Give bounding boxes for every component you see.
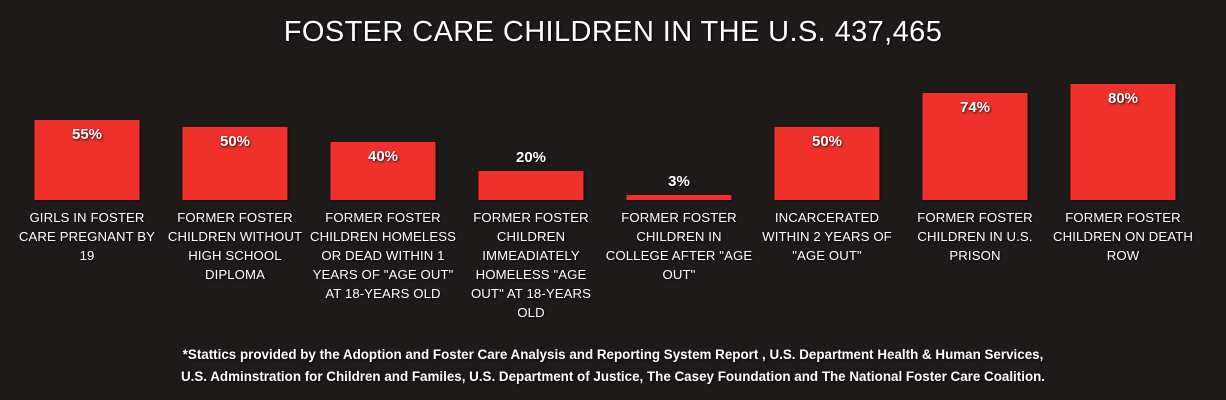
bar-zone: 55% xyxy=(13,60,161,200)
bar[interactable]: 80% xyxy=(1071,84,1176,200)
bar-value-label: 50% xyxy=(775,133,880,150)
bar-value-label: 40% xyxy=(331,148,436,165)
bar-category-label: FORMER FOSTERCHILDREN WITHOUTHIGH SCHOOL… xyxy=(161,208,309,284)
category-label-line: FORMER FOSTER xyxy=(605,208,753,227)
footnote: *Stattics provided by the Adoption and F… xyxy=(0,344,1226,388)
bar[interactable]: 55% xyxy=(35,120,140,200)
bar[interactable]: 40% xyxy=(331,142,436,200)
bar-category-label: GIRLS IN FOSTERCARE PREGNANT BY19 xyxy=(13,208,161,265)
bar-column: 50%INCARCERATEDWITHIN 2 YEARS OF"AGE OUT… xyxy=(753,60,901,335)
category-label-line: OR DEAD WITHIN 1 xyxy=(309,246,457,265)
category-label-line: CHILDREN WITHOUT xyxy=(161,227,309,246)
bar-value-label: 80% xyxy=(1071,90,1176,107)
bar-category-label: FORMER FOSTERCHILDREN INCOLLEGE AFTER "A… xyxy=(605,208,753,284)
category-label-line: AT 18-YEARS OLD xyxy=(309,284,457,303)
page-title: FOSTER CARE CHILDREN IN THE U.S. 437,465 xyxy=(0,16,1226,49)
bar-category-label: FORMER FOSTERCHILDRENIMMEADIATELYHOMELES… xyxy=(457,208,605,322)
category-label-line: DIPLOMA xyxy=(161,265,309,284)
category-label-line: COLLEGE AFTER "AGE xyxy=(605,246,753,265)
category-label-line: INCARCERATED xyxy=(753,208,901,227)
bar-value-label: 55% xyxy=(35,126,140,143)
bar-column: 55%GIRLS IN FOSTERCARE PREGNANT BY19 xyxy=(13,60,161,335)
bar[interactable]: 3% xyxy=(627,195,732,200)
bar-column: 40%FORMER FOSTERCHILDREN HOMELESSOR DEAD… xyxy=(309,60,457,335)
category-label-line: FORMER FOSTER xyxy=(161,208,309,227)
category-label-line: FORMER FOSTER xyxy=(1049,208,1197,227)
bar-column: 74%FORMER FOSTERCHILDREN IN U.S.PRISON xyxy=(901,60,1049,335)
category-label-line: HIGH SCHOOL xyxy=(161,246,309,265)
bar-zone: 74% xyxy=(901,60,1049,200)
category-label-line: CHILDREN xyxy=(457,227,605,246)
bar-zone: 50% xyxy=(161,60,309,200)
category-label-line: YEARS OF "AGE OUT" xyxy=(309,265,457,284)
category-label-line: CARE PREGNANT BY xyxy=(13,227,161,246)
bar-column: 20%FORMER FOSTERCHILDRENIMMEADIATELYHOME… xyxy=(457,60,605,335)
bar-chart: 55%GIRLS IN FOSTERCARE PREGNANT BY1950%F… xyxy=(0,60,1226,335)
bar-zone: 3% xyxy=(605,60,753,200)
category-label-line: CHILDREN ON DEATH xyxy=(1049,227,1197,246)
category-label-line: HOMELESS "AGE xyxy=(457,265,605,284)
category-label-line: 19 xyxy=(13,246,161,265)
bar-value-label: 74% xyxy=(923,99,1028,116)
bar-zone: 80% xyxy=(1049,60,1197,200)
category-label-line: GIRLS IN FOSTER xyxy=(13,208,161,227)
category-label-line: OUT" AT 18-YEARS xyxy=(457,284,605,303)
bar-zone: 20% xyxy=(457,60,605,200)
bar[interactable]: 20% xyxy=(479,171,584,200)
footnote-line-2: U.S. Adminstration for Children and Fami… xyxy=(0,366,1226,388)
category-label-line: FORMER FOSTER xyxy=(901,208,1049,227)
category-label-line: OUT" xyxy=(605,265,753,284)
bar-column: 80%FORMER FOSTERCHILDREN ON DEATHROW xyxy=(1049,60,1197,335)
bar[interactable]: 50% xyxy=(183,127,288,200)
category-label-line: CHILDREN IN xyxy=(605,227,753,246)
category-label-line: FORMER FOSTER xyxy=(457,208,605,227)
bar-value-label: 3% xyxy=(627,173,732,190)
bar[interactable]: 50% xyxy=(775,127,880,200)
bar-category-label: INCARCERATEDWITHIN 2 YEARS OF"AGE OUT" xyxy=(753,208,901,265)
category-label-line: CHILDREN HOMELESS xyxy=(309,227,457,246)
bar-value-label: 20% xyxy=(479,149,584,166)
category-label-line: IMMEADIATELY xyxy=(457,246,605,265)
bar-column: 50%FORMER FOSTERCHILDREN WITHOUTHIGH SCH… xyxy=(161,60,309,335)
category-label-line: "AGE OUT" xyxy=(753,246,901,265)
category-label-line: PRISON xyxy=(901,246,1049,265)
footnote-line-1: *Stattics provided by the Adoption and F… xyxy=(0,344,1226,366)
bar-zone: 40% xyxy=(309,60,457,200)
bar-zone: 50% xyxy=(753,60,901,200)
bar-column: 3%FORMER FOSTERCHILDREN INCOLLEGE AFTER … xyxy=(605,60,753,335)
category-label-line: ROW xyxy=(1049,246,1197,265)
bar-value-label: 50% xyxy=(183,133,288,150)
infographic-poster: FOSTER CARE CHILDREN IN THE U.S. 437,465… xyxy=(0,0,1226,400)
bar[interactable]: 74% xyxy=(923,93,1028,200)
bar-category-label: FORMER FOSTERCHILDREN ON DEATHROW xyxy=(1049,208,1197,265)
category-label-line: OLD xyxy=(457,303,605,322)
category-label-line: WITHIN 2 YEARS OF xyxy=(753,227,901,246)
bar-category-label: FORMER FOSTERCHILDREN HOMELESSOR DEAD WI… xyxy=(309,208,457,303)
category-label-line: FORMER FOSTER xyxy=(309,208,457,227)
category-label-line: CHILDREN IN U.S. xyxy=(901,227,1049,246)
bar-category-label: FORMER FOSTERCHILDREN IN U.S.PRISON xyxy=(901,208,1049,265)
